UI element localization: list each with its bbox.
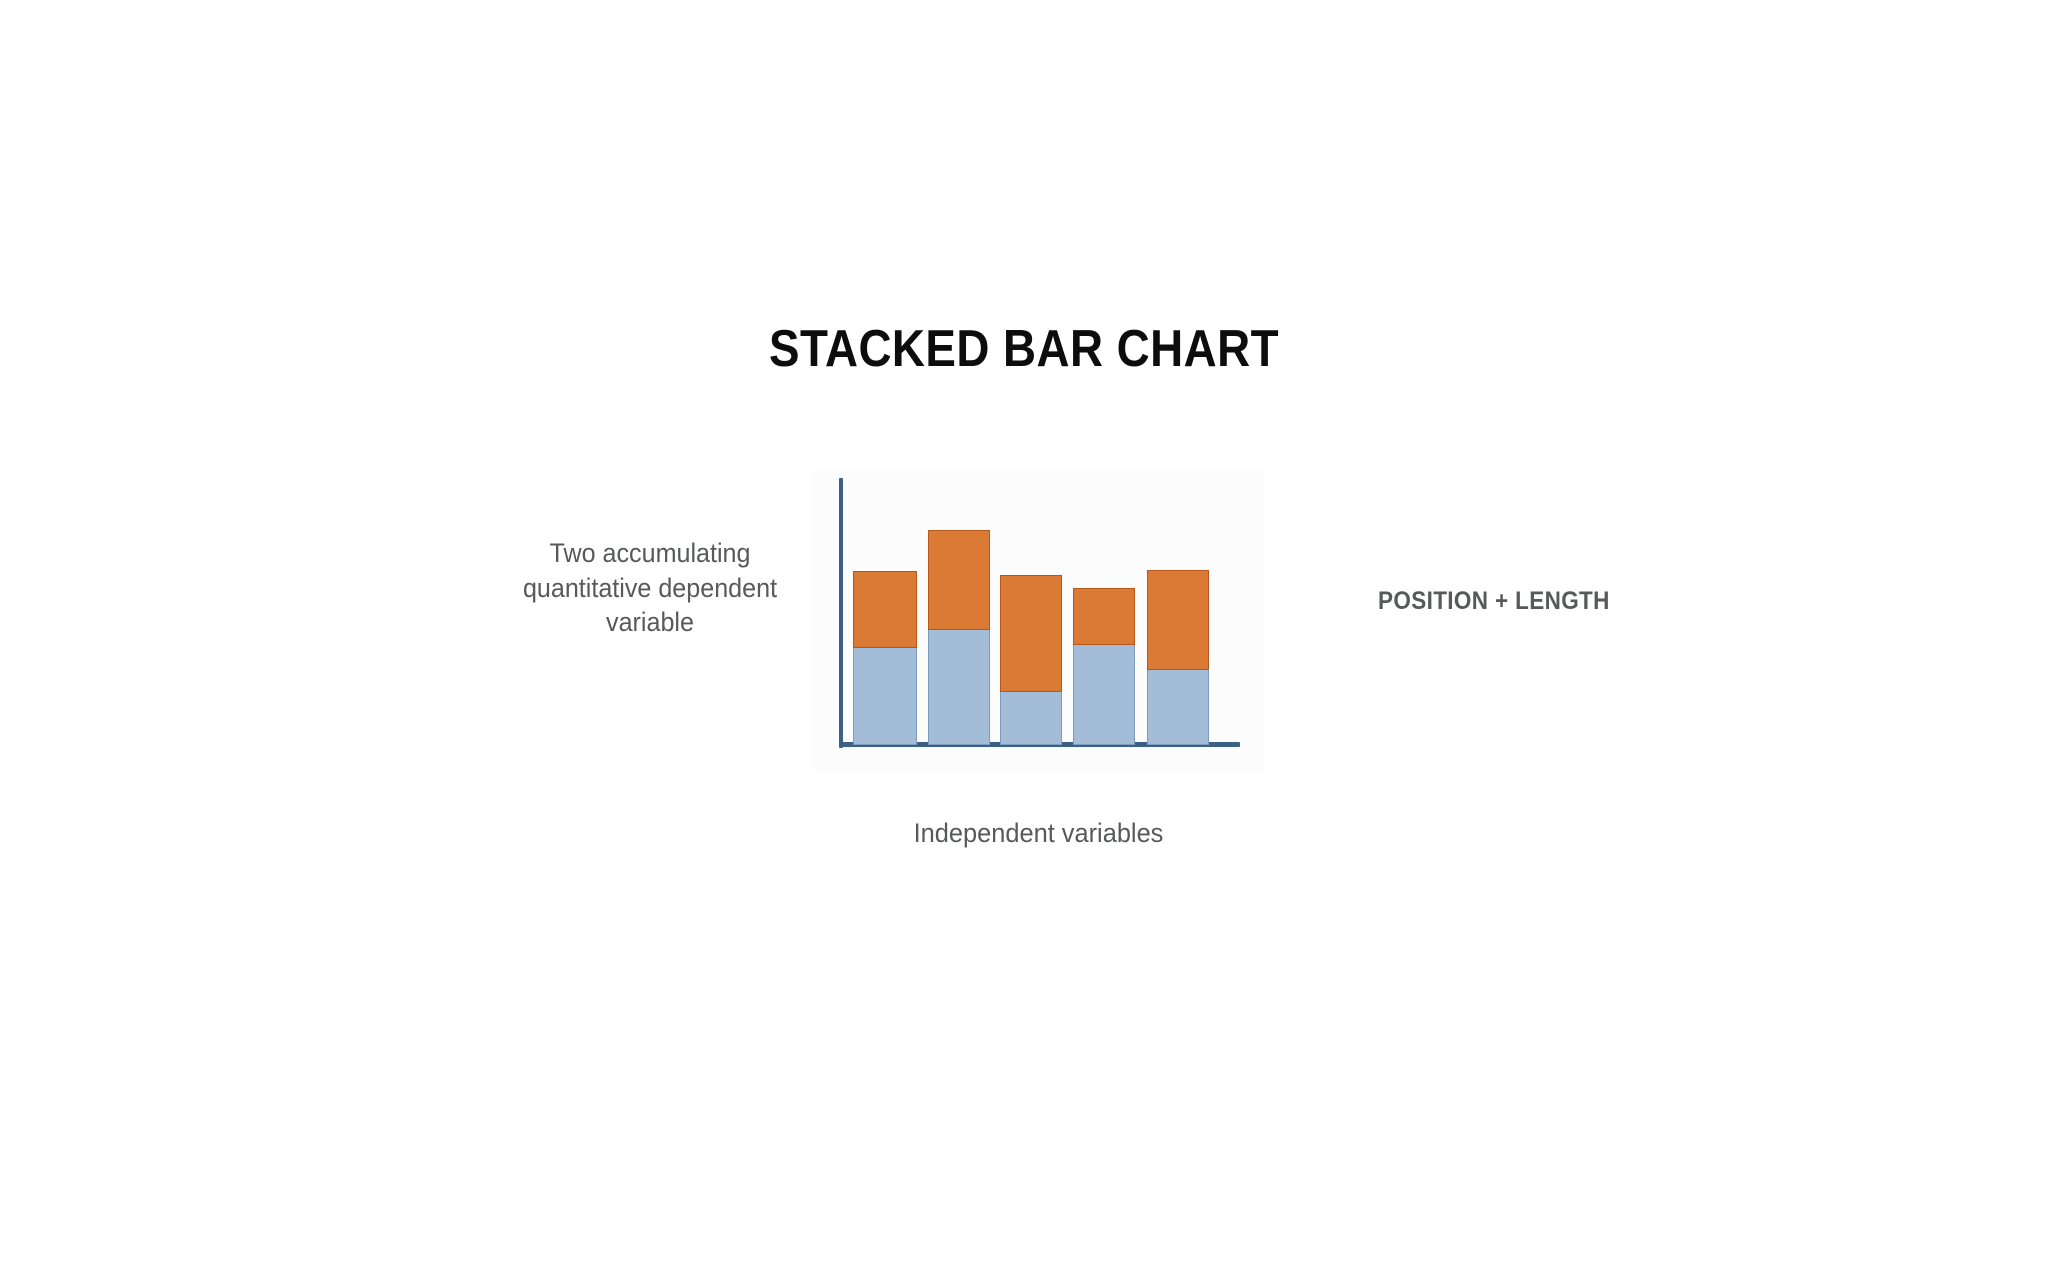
stacked-bar (1073, 588, 1135, 745)
chart-panel (812, 470, 1265, 772)
bar-segment-bottom (928, 630, 990, 745)
bar-segment-top (1073, 588, 1135, 645)
x-axis-caption: Independent variables (826, 818, 1252, 849)
bar-segment-top (928, 530, 990, 630)
bar-segment-bottom (1000, 692, 1062, 745)
bar-segment-bottom (1147, 670, 1209, 745)
stacked-bar (928, 530, 990, 745)
bar-segment-bottom (853, 648, 917, 745)
bar-series-group (812, 470, 1265, 772)
bar-segment-top (853, 571, 917, 648)
stacked-bar (1000, 575, 1062, 745)
bar-segment-top (1000, 575, 1062, 692)
bar-segment-top (1147, 570, 1209, 670)
encoding-annotation: POSITION + LENGTH (1378, 587, 1610, 616)
bar-segment-bottom (1073, 645, 1135, 745)
stacked-bar (1147, 570, 1209, 745)
page-title: STACKED BAR CHART (123, 323, 1925, 375)
stacked-bar-plot (812, 470, 1265, 772)
stacked-bar (853, 571, 917, 745)
y-axis-annotation: Two accumulating quantitative dependent … (511, 536, 790, 640)
